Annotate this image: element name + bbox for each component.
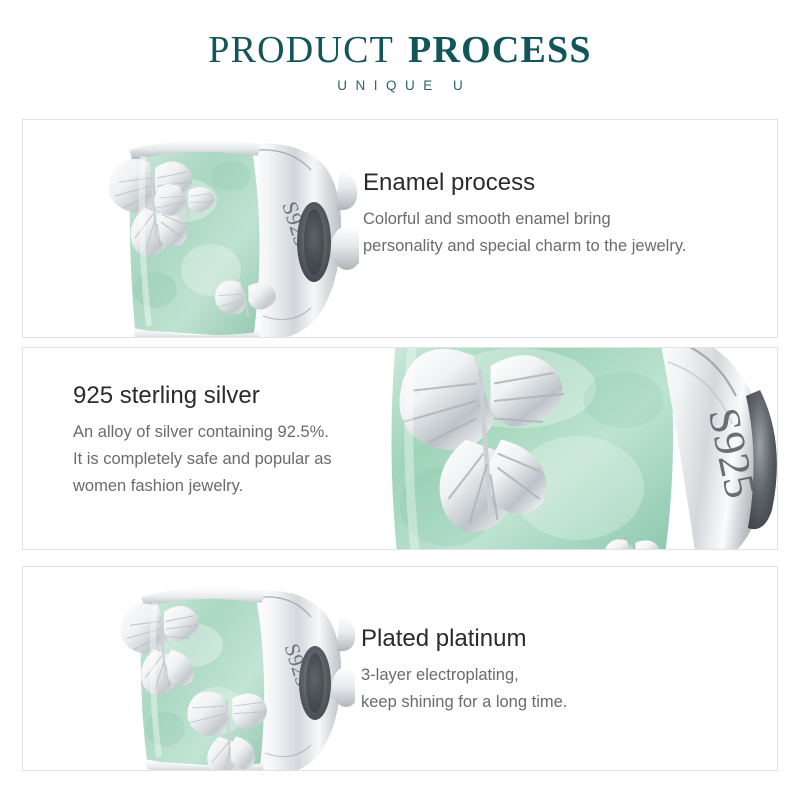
panel-3-body-line-1: 3-layer electroplating, xyxy=(361,662,567,689)
charm-image-sterling-silver: S925 xyxy=(368,347,778,550)
process-panel-enamel: S925 xyxy=(22,119,778,338)
charm-image-plated-platinum: S925 xyxy=(105,579,355,771)
page-title-word-product: PRODUCT xyxy=(208,29,394,71)
process-panel-sterling-silver: 925 sterling silver An alloy of silver c… xyxy=(22,347,778,550)
panel-2-heading: 925 sterling silver xyxy=(73,381,332,411)
panel-2-body-line-1: An alloy of silver containing 92.5%. xyxy=(73,419,332,446)
panel-1-body-line-1: Colorful and smooth enamel bring xyxy=(363,206,686,233)
process-panel-plated-platinum: S925 xyxy=(22,566,778,771)
charm-illustration: S925 xyxy=(91,130,359,338)
panel-2-text-block: 925 sterling silver An alloy of silver c… xyxy=(73,381,332,500)
panel-3-text-block: Plated platinum 3-layer electroplating, … xyxy=(361,624,567,716)
page-title-word-process: PROCESS xyxy=(408,29,592,71)
panel-2-body-line-2: It is completely safe and popular as xyxy=(73,446,332,473)
page-header: PRODUCTPROCESS UNIQUE U xyxy=(0,0,800,112)
panel-1-heading: Enamel process xyxy=(363,168,686,198)
page-subtitle: UNIQUE U xyxy=(0,78,800,94)
charm-image-enamel: S925 xyxy=(91,130,359,338)
panel-1-body-line-2: personality and special charm to the jew… xyxy=(363,233,686,260)
panel-1-text-block: Enamel process Colorful and smooth ename… xyxy=(363,168,686,260)
charm-illustration-3: S925 xyxy=(105,579,355,771)
charm-macro-illustration: S925 xyxy=(368,347,778,550)
panel-3-body-line-2: keep shining for a long time. xyxy=(361,689,567,716)
page-title: PRODUCTPROCESS xyxy=(0,29,800,71)
panel-3-heading: Plated platinum xyxy=(361,624,567,654)
panel-2-body-line-3: women fashion jewelry. xyxy=(73,473,332,500)
